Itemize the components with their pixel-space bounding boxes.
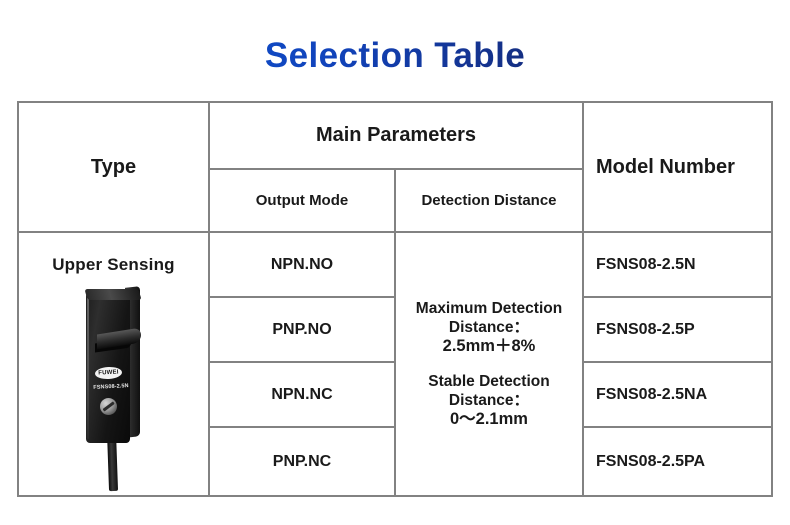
spacer <box>416 356 562 372</box>
header-main-parameters: Main Parameters <box>208 103 582 170</box>
stable-detection-value: 0～2.1mm <box>450 410 528 428</box>
max-detection-line2: Distance： <box>449 319 529 336</box>
cell-model-number-2: FSNS08-2.5NA <box>582 363 771 428</box>
sensor-adjuster-dial <box>99 398 117 416</box>
max-detection-value: 2.5mm＋8% <box>443 337 536 355</box>
cell-model-number-3: FSNS08-2.5PA <box>582 428 771 495</box>
type-label: Upper Sensing <box>52 255 175 275</box>
cell-output-mode-0: NPN.NO <box>208 233 394 298</box>
cell-output-mode-2: NPN.NC <box>208 363 394 428</box>
sensor-top-cap <box>84 289 141 300</box>
max-detection-line1: Maximum Detection <box>416 300 562 317</box>
header-output-mode: Output Mode <box>208 170 394 233</box>
cell-output-mode-3: PNP.NC <box>208 428 394 495</box>
page-title: Selection Table <box>0 34 790 78</box>
slot-photoelectric-sensor-icon: FUWEI FSNS08-2.5N <box>59 283 169 488</box>
stable-detection-line1: Stable Detection <box>428 373 549 390</box>
header-type: Type <box>19 103 208 233</box>
cell-model-number-1: FSNS08-2.5P <box>582 298 771 363</box>
header-detection-distance: Detection Distance <box>394 170 582 233</box>
header-model-number: Model Number <box>582 103 771 233</box>
selection-table: Type Main Parameters Output Mode Detecti… <box>17 101 773 497</box>
detection-distance-text: Maximum Detection Distance： 2.5mm＋8% Sta… <box>410 299 568 429</box>
cell-detection-distance-value: Maximum Detection Distance： 2.5mm＋8% Sta… <box>394 233 582 495</box>
cell-output-mode-1: PNP.NO <box>208 298 394 363</box>
sensor-highlight <box>87 297 89 439</box>
cell-type-upper-sensing: Upper Sensing FUWEI FSNS08-2.5N <box>19 233 208 495</box>
stable-detection-line2: Distance： <box>449 392 529 409</box>
cell-model-number-0: FSNS08-2.5N <box>582 233 771 298</box>
